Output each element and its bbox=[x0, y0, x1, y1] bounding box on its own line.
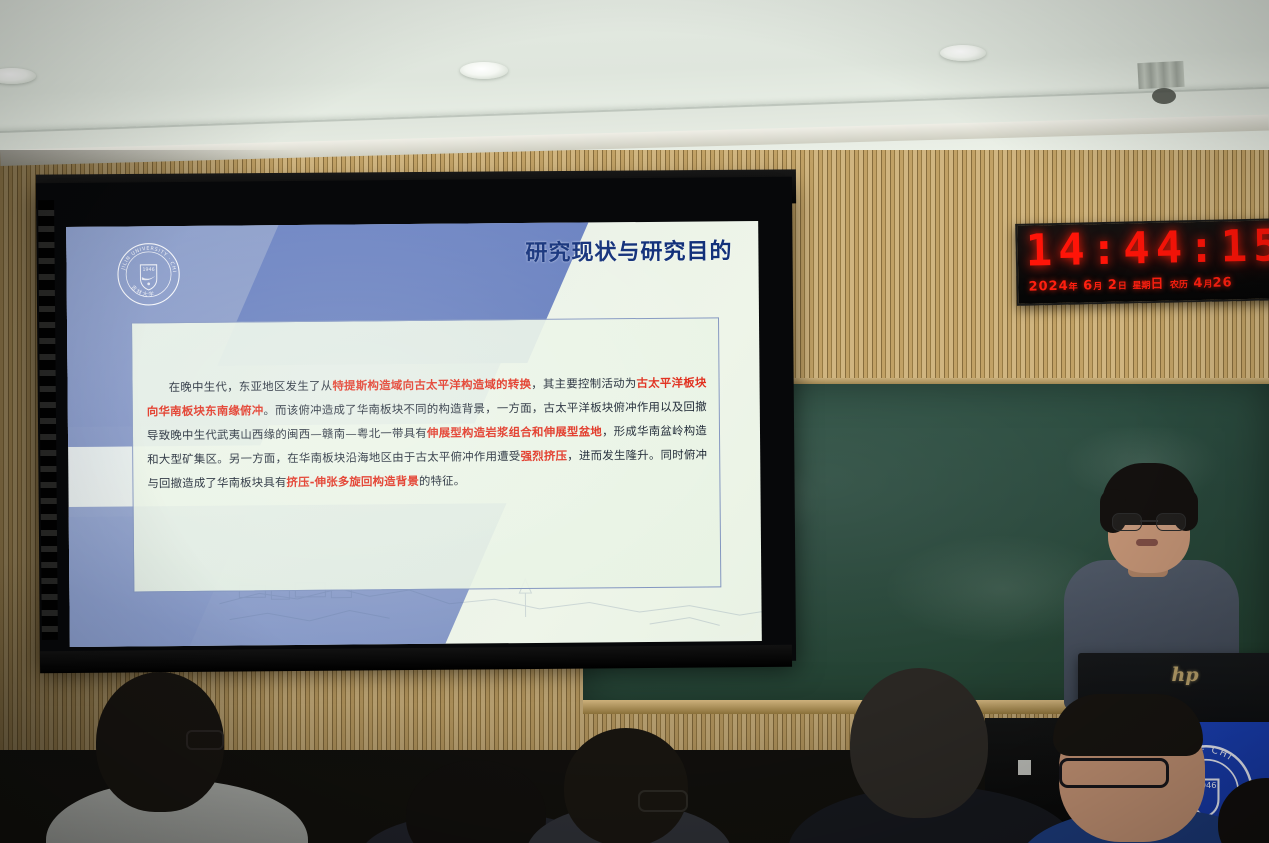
downlight-icon bbox=[940, 45, 986, 61]
projected-slide: 1946 JILIN UNIVERSITY · CHINA 吉林大学 研究现状与… bbox=[66, 221, 762, 647]
presenter-glasses-icon bbox=[1112, 513, 1186, 529]
audience-member-5 bbox=[1035, 700, 1245, 843]
highlighted-phrase: 强烈挤压 bbox=[521, 449, 568, 463]
audience-member-1 bbox=[60, 672, 290, 843]
body-run: 在晚中生代，东亚地区发生了从 bbox=[169, 379, 333, 394]
highlighted-phrase: 挤压-伸张多旋回构造背景 bbox=[286, 474, 419, 489]
jilin-university-seal-icon: 1946 JILIN UNIVERSITY · CHINA 吉林大学 bbox=[114, 240, 183, 309]
downlight-icon bbox=[460, 62, 508, 79]
body-run: 的特征。 bbox=[419, 474, 465, 488]
smoke-detector-icon bbox=[1152, 88, 1176, 104]
svg-text:1946: 1946 bbox=[142, 267, 154, 273]
highlighted-phrase: 伸展型构造岩浆组合和伸展型盆地 bbox=[427, 424, 602, 440]
ceiling-vent-icon bbox=[1137, 61, 1184, 89]
body-run: ，其主要控制活动为 bbox=[531, 376, 636, 391]
digital-wall-clock: 14:44:15 2024年 6月 2日 星期日 农历 4月26 bbox=[1015, 218, 1269, 306]
presenter-mouth bbox=[1136, 539, 1158, 546]
audience-member-4 bbox=[818, 668, 1038, 843]
highlighted-phrase: 特提斯构造域向古太平洋构造域的转换 bbox=[332, 377, 531, 393]
slide-content-box: 在晚中生代，东亚地区发生了从特提斯构造域向古太平洋构造域的转换，其主要控制活动为… bbox=[131, 317, 721, 592]
slide-title: 研究现状与研究目的 bbox=[525, 233, 732, 267]
slide-body-text: 在晚中生代，东亚地区发生了从特提斯构造域向古太平洋构造域的转换，其主要控制活动为… bbox=[146, 370, 707, 495]
clock-time-display: 14:44:15 bbox=[1025, 222, 1269, 276]
audience-member-3 bbox=[552, 728, 702, 843]
audience-member-6 bbox=[1218, 778, 1269, 843]
hp-logo: hp bbox=[1165, 661, 1205, 689]
lecture-hall-scene: 1946 JILIN UNIVERSITY · CHINA 吉林大学 研究现状与… bbox=[0, 0, 1269, 843]
